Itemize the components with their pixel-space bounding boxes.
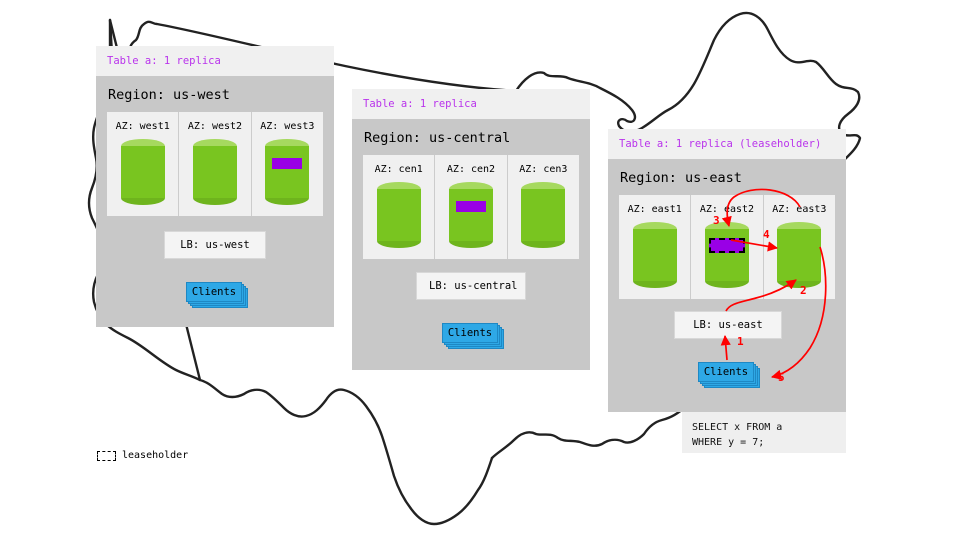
load-balancer-us-east[interactable]: LB: us-east <box>674 311 782 339</box>
az-label-cen1: AZ: cen1 <box>375 164 423 175</box>
legend-leaseholder: leaseholder <box>97 450 188 461</box>
clients-button-us-west[interactable]: Clients <box>186 282 242 302</box>
cylinder-body <box>193 146 237 198</box>
az-cell-east2[interactable]: AZ: east2 <box>690 195 762 299</box>
node-cylinder-east2[interactable] <box>705 222 749 288</box>
cylinder-body <box>521 189 565 241</box>
az-label-cen3: AZ: cen3 <box>519 164 567 175</box>
node-cylinder-east3[interactable] <box>777 222 821 288</box>
clients-stack-us-central[interactable]: Clients <box>442 323 500 345</box>
node-cylinder-cen2[interactable] <box>449 182 493 248</box>
az-cell-west3[interactable]: AZ: west3 <box>251 112 323 216</box>
node-cylinder-west2[interactable] <box>193 139 237 205</box>
panel-title-us-west: Table a: 1 replica <box>96 46 334 76</box>
node-cylinder-east1[interactable] <box>633 222 677 288</box>
az-label-east3: AZ: east3 <box>772 204 826 215</box>
step-number-2: 2 <box>800 284 807 297</box>
clients-button-us-central[interactable]: Clients <box>442 323 498 343</box>
region-label-us-east: Region: us-east <box>608 159 846 195</box>
region-label-us-west: Region: us-west <box>96 76 334 112</box>
cylinder-body <box>705 229 749 281</box>
step-number-5: 5 <box>778 371 785 384</box>
panel-title-us-central: Table a: 1 replica <box>352 89 590 119</box>
cylinder-body <box>121 146 165 198</box>
clients-stack-us-west[interactable]: Clients <box>186 282 244 304</box>
az-cell-east1[interactable]: AZ: east1 <box>619 195 690 299</box>
node-cylinder-west1[interactable] <box>121 139 165 205</box>
node-cylinder-west3[interactable] <box>265 139 309 205</box>
replica-marker-cen2 <box>456 201 486 212</box>
legend-label: leaseholder <box>122 450 188 461</box>
az-cell-cen2[interactable]: AZ: cen2 <box>434 155 506 259</box>
cylinder-body <box>449 189 493 241</box>
step-number-1: 1 <box>737 335 744 348</box>
az-label-west3: AZ: west3 <box>260 121 314 132</box>
clients-button-us-east[interactable]: Clients <box>698 362 754 382</box>
az-label-west2: AZ: west2 <box>188 121 242 132</box>
region-label-us-central: Region: us-central <box>352 119 590 155</box>
az-cell-cen1[interactable]: AZ: cen1 <box>363 155 434 259</box>
cylinder-body <box>777 229 821 281</box>
step-number-4: 4 <box>763 228 770 241</box>
cylinder-body <box>633 229 677 281</box>
az-label-east1: AZ: east1 <box>628 204 682 215</box>
az-cell-cen3[interactable]: AZ: cen3 <box>507 155 579 259</box>
node-cylinder-cen1[interactable] <box>377 182 421 248</box>
az-cell-west2[interactable]: AZ: west2 <box>178 112 250 216</box>
leaseholder-replica-east2 <box>709 238 745 253</box>
step-number-3: 3 <box>713 214 720 227</box>
node-cylinder-cen3[interactable] <box>521 182 565 248</box>
us-outline-gulf-south <box>200 380 492 524</box>
diagram-canvas: Table a: 1 replica Region: us-west AZ: w… <box>0 0 960 540</box>
load-balancer-us-central[interactable]: LB: us-central <box>416 272 526 300</box>
az-label-west1: AZ: west1 <box>116 121 170 132</box>
panel-title-us-east: Table a: 1 replica (leaseholder) <box>608 129 846 159</box>
sql-query-box: SELECT x FROM a WHERE y = 7; <box>682 412 846 453</box>
clients-stack-us-east[interactable]: Clients <box>698 362 756 384</box>
cylinder-body <box>265 146 309 198</box>
az-cell-east3[interactable]: AZ: east3 <box>763 195 835 299</box>
az-cell-west1[interactable]: AZ: west1 <box>107 112 178 216</box>
az-row-us-central: AZ: cen1 AZ: cen2 AZ: cen3 <box>363 155 579 259</box>
az-label-cen2: AZ: cen2 <box>447 164 495 175</box>
replica-marker-west3 <box>272 158 302 169</box>
dashed-rectangle-icon <box>97 451 116 461</box>
az-row-us-west: AZ: west1 AZ: west2 AZ: west3 <box>107 112 323 216</box>
cylinder-body <box>377 189 421 241</box>
load-balancer-us-west[interactable]: LB: us-west <box>164 231 266 259</box>
az-label-east2: AZ: east2 <box>700 204 754 215</box>
